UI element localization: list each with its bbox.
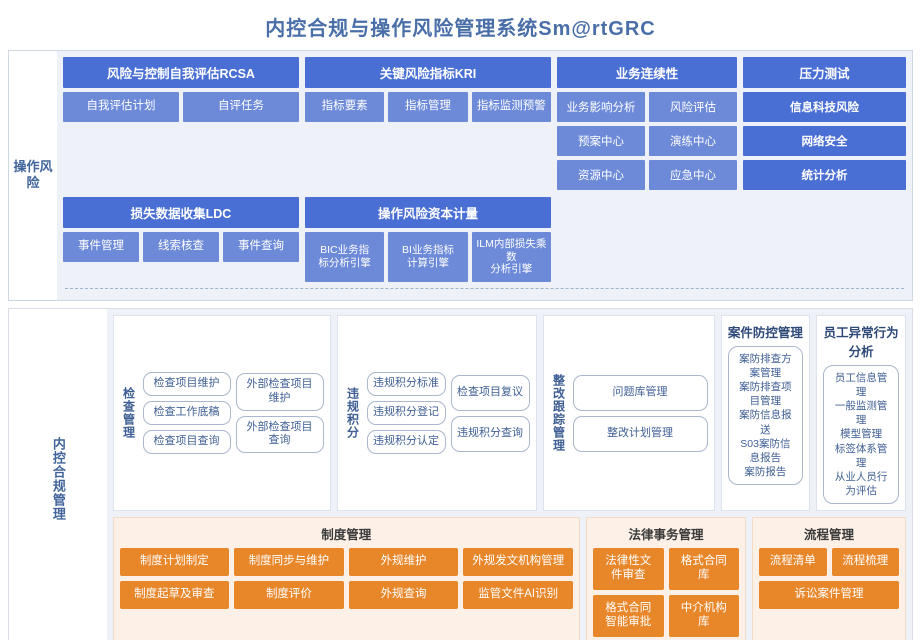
card-policy-management-title: 制度管理 <box>120 524 574 543</box>
internal-control-row-1: 检查管理 检查项目维护 检查工作底稿 检查项目查询 外部检查项目 维护 外部检查… <box>113 315 907 512</box>
group-bcm-tiles: 业务影响分析 风险评估 预案中心 演练中心 资源中心 应急中心 <box>557 92 737 190</box>
group-kri-sub-1[interactable]: 指标管理 <box>388 92 467 122</box>
stress-tile-row-0: 信息科技风险 <box>743 92 906 122</box>
group-ldc-sub-1[interactable]: 线索核查 <box>143 232 219 262</box>
card-employee-behavior: 员工异常行为分析 员工信息管理 一般监测管理 模型管理 标签体系管理 从业人员行… <box>816 315 906 512</box>
check-item-maintain[interactable]: 检查项目维护 <box>143 372 231 396</box>
group-rcsa-sub-0[interactable]: 自我评估计划 <box>63 92 179 122</box>
card-process-management: 流程管理 流程清单 流程梳理 诉讼案件管理 <box>752 517 906 640</box>
group-kri-sub-2[interactable]: 指标监测预警 <box>472 92 551 122</box>
check-management-columns: 检查项目维护 检查工作底稿 检查项目查询 外部检查项目 维护 外部检查项目 查询 <box>143 372 324 454</box>
case-prevention-items[interactable]: 案防排查方案管理 案防排查项目管理 案防信息报送 S03案防信息报告 案防报告 <box>728 346 804 486</box>
litigation-case-management[interactable]: 诉讼案件管理 <box>759 581 899 609</box>
card-process-management-title: 流程管理 <box>759 524 899 543</box>
external-check-maintain[interactable]: 外部检查项目 维护 <box>236 373 324 411</box>
bcm-tile-row-2: 资源中心 应急中心 <box>557 160 737 190</box>
bcm-tile-0-0[interactable]: 业务影响分析 <box>557 92 645 122</box>
policy-evaluation[interactable]: 制度评价 <box>234 581 344 609</box>
operational-risk-row-2: 损失数据收集LDC 事件管理 线索核查 事件查询 操作风险资本计量 BIC业务指… <box>63 197 906 282</box>
legal-affairs-grid: 法律性文 件审查 格式合同 库 格式合同 智能审批 中介机构 库 <box>593 548 739 636</box>
process-list[interactable]: 流程清单 <box>759 548 827 576</box>
check-item-query[interactable]: 检查项目查询 <box>143 430 231 454</box>
card-rectification-tracking: 整改跟踪管理 问题库管理 整改计划管理 <box>543 315 715 512</box>
stress-tile-0[interactable]: 信息科技风险 <box>743 92 906 122</box>
band-label-internal-control-text: 内控合规管理 <box>50 437 66 521</box>
band-operational-risk: 操作风险 风险与控制自我评估RCSA 自我评估计划 自评任务 关键风险指标KRI… <box>8 50 913 301</box>
intermediary-agency-library[interactable]: 中介机构 库 <box>669 595 740 637</box>
band-label-internal-control: 内控合规管理 <box>9 309 107 640</box>
group-stress-tiles: 信息科技风险 网络安全 统计分析 <box>743 92 906 190</box>
check-management-col-1: 检查项目维护 检查工作底稿 检查项目查询 <box>143 372 231 454</box>
page-title: 内控合规与操作风险管理系统Sm@rtGRC <box>0 0 921 50</box>
group-capital-subs: BIC业务指 标分析引擎 BI业务指标 计算引擎 ILM内部损失乘数 分析引擎 <box>305 232 551 282</box>
rectification-plan-management[interactable]: 整改计划管理 <box>573 416 708 452</box>
violation-points-columns: 违规积分标准 违规积分登记 违规积分认定 检查项目复议 违规积分查询 <box>367 372 530 454</box>
band-label-operational-risk: 操作风险 <box>9 51 57 300</box>
violation-register[interactable]: 违规积分登记 <box>367 401 446 425</box>
policy-plan-formulation[interactable]: 制度计划制定 <box>120 548 230 576</box>
stress-tile-1[interactable]: 网络安全 <box>743 126 906 156</box>
group-orc-capital: 操作风险资本计量 BIC业务指 标分析引擎 BI业务指标 计算引擎 ILM内部损… <box>305 197 551 282</box>
process-management-grid: 流程清单 流程梳理 诉讼案件管理 <box>759 548 899 609</box>
violation-points-col-1: 违规积分标准 违规积分登记 违规积分认定 <box>367 372 446 454</box>
external-rule-query[interactable]: 外规查询 <box>349 581 459 609</box>
group-bcm-header[interactable]: 业务连续性 <box>557 57 737 88</box>
process-combing[interactable]: 流程梳理 <box>832 548 900 576</box>
rectification-columns: 问题库管理 整改计划管理 <box>573 375 708 452</box>
legal-document-review[interactable]: 法律性文 件审查 <box>593 548 664 590</box>
bcm-tile-2-0[interactable]: 资源中心 <box>557 160 645 190</box>
regulatory-doc-ai-recognition[interactable]: 监管文件AI识别 <box>463 581 573 609</box>
policy-management-grid: 制度计划制定 制度同步与维护 外规维护 外规发文机构管理 制度起草及审查 制度评… <box>120 548 574 609</box>
group-capital-sub-2[interactable]: ILM内部损失乘数 分析引擎 <box>472 232 551 282</box>
group-rcsa-subs: 自我评估计划 自评任务 <box>63 92 299 122</box>
group-kri-sub-0[interactable]: 指标要素 <box>305 92 384 122</box>
group-rcsa: 风险与控制自我评估RCSA 自我评估计划 自评任务 <box>63 57 299 190</box>
group-rcsa-sub-1[interactable]: 自评任务 <box>183 92 299 122</box>
band-internal-control: 内控合规管理 检查管理 检查项目维护 检查工作底稿 检查项目查询 外部检查项目 … <box>8 308 913 640</box>
bcm-tile-1-1[interactable]: 演练中心 <box>649 126 737 156</box>
policy-sync-maintain[interactable]: 制度同步与维护 <box>234 548 344 576</box>
group-business-continuity: 业务连续性 业务影响分析 风险评估 预案中心 演练中心 资源中心 应急中心 <box>557 57 737 190</box>
stress-tile-row-2: 统计分析 <box>743 160 906 190</box>
stress-tile-row-1: 网络安全 <box>743 126 906 156</box>
operational-risk-row-1: 风险与控制自我评估RCSA 自我评估计划 自评任务 关键风险指标KRI 指标要素… <box>63 57 906 190</box>
card-violation-points-label: 违规积分 <box>344 387 362 439</box>
group-ldc-sub-0[interactable]: 事件管理 <box>63 232 139 262</box>
card-case-prevention-title: 案件防控管理 <box>728 322 803 341</box>
standard-contract-library[interactable]: 格式合同 库 <box>669 548 740 590</box>
group-capital-sub-1[interactable]: BI业务指标 计算引擎 <box>388 232 467 282</box>
check-item-review[interactable]: 检查项目复议 <box>451 375 530 411</box>
group-kri-header[interactable]: 关键风险指标KRI <box>305 57 551 88</box>
card-legal-affairs: 法律事务管理 法律性文 件审查 格式合同 库 格式合同 智能审批 中介机构 库 <box>586 517 746 640</box>
card-case-prevention: 案件防控管理 案防排查方案管理 案防排查项目管理 案防信息报送 S03案防信息报… <box>721 315 811 512</box>
bcm-tile-2-1[interactable]: 应急中心 <box>649 160 737 190</box>
card-check-management-label: 检查管理 <box>120 387 138 439</box>
group-ldc: 损失数据收集LDC 事件管理 线索核查 事件查询 <box>63 197 299 282</box>
group-ldc-header[interactable]: 损失数据收集LDC <box>63 197 299 228</box>
card-violation-points: 违规积分 违规积分标准 违规积分登记 违规积分认定 检查项目复议 违规积分查询 <box>337 315 537 512</box>
operational-risk-body: 风险与控制自我评估RCSA 自我评估计划 自评任务 关键风险指标KRI 指标要素… <box>57 51 912 300</box>
check-management-col-2: 外部检查项目 维护 外部检查项目 查询 <box>236 372 324 454</box>
group-capital-header[interactable]: 操作风险资本计量 <box>305 197 551 228</box>
issue-library-management[interactable]: 问题库管理 <box>573 375 708 411</box>
internal-control-row-2: 制度管理 制度计划制定 制度同步与维护 外规维护 外规发文机构管理 制度起草及审… <box>113 517 907 640</box>
card-rectification-label: 整改跟踪管理 <box>550 374 568 452</box>
group-stress-test: 压力测试 信息科技风险 网络安全 统计分析 <box>743 57 906 190</box>
internal-control-body: 检查管理 检查项目维护 检查工作底稿 检查项目查询 外部检查项目 维护 外部检查… <box>107 309 913 640</box>
group-kri-subs: 指标要素 指标管理 指标监测预警 <box>305 92 551 122</box>
operational-risk-divider <box>65 288 904 289</box>
architecture-diagram-page: 内控合规与操作风险管理系统Sm@rtGRC 操作风险 风险与控制自我评估RCSA… <box>0 0 921 640</box>
bcm-tile-row-1: 预案中心 演练中心 <box>557 126 737 156</box>
stress-tile-2[interactable]: 统计分析 <box>743 160 906 190</box>
group-kri: 关键风险指标KRI 指标要素 指标管理 指标监测预警 <box>305 57 551 190</box>
violation-confirm[interactable]: 违规积分认定 <box>367 430 446 454</box>
rectification-col-1: 问题库管理 整改计划管理 <box>573 375 708 452</box>
standard-contract-smart-approval[interactable]: 格式合同 智能审批 <box>593 595 664 637</box>
external-rule-issuer-management[interactable]: 外规发文机构管理 <box>463 548 573 576</box>
group-ldc-sub-2[interactable]: 事件查询 <box>223 232 299 262</box>
bcm-tile-row-0: 业务影响分析 风险评估 <box>557 92 737 122</box>
bcm-tile-1-0[interactable]: 预案中心 <box>557 126 645 156</box>
check-workpaper[interactable]: 检查工作底稿 <box>143 401 231 425</box>
card-check-management: 检查管理 检查项目维护 检查工作底稿 检查项目查询 外部检查项目 维护 外部检查… <box>113 315 331 512</box>
group-rcsa-header[interactable]: 风险与控制自我评估RCSA <box>63 57 299 88</box>
policy-draft-review[interactable]: 制度起草及审查 <box>120 581 230 609</box>
card-policy-management: 制度管理 制度计划制定 制度同步与维护 外规维护 外规发文机构管理 制度起草及审… <box>113 517 581 640</box>
group-capital-sub-0[interactable]: BIC业务指 标分析引擎 <box>305 232 384 282</box>
group-ldc-subs: 事件管理 线索核查 事件查询 <box>63 232 299 262</box>
card-legal-affairs-title: 法律事务管理 <box>593 524 739 543</box>
external-rule-maintain[interactable]: 外规维护 <box>349 548 459 576</box>
external-check-query[interactable]: 外部检查项目 查询 <box>236 416 324 454</box>
card-employee-behavior-title: 员工异常行为分析 <box>823 322 899 360</box>
employee-behavior-items[interactable]: 员工信息管理 一般监测管理 模型管理 标签体系管理 从业人员行为评估 <box>823 365 899 505</box>
violation-query[interactable]: 违规积分查询 <box>451 416 530 452</box>
group-stress-header[interactable]: 压力测试 <box>743 57 906 88</box>
bcm-tile-0-1[interactable]: 风险评估 <box>649 92 737 122</box>
violation-standard[interactable]: 违规积分标准 <box>367 372 446 396</box>
violation-points-col-2: 检查项目复议 违规积分查询 <box>451 372 530 454</box>
